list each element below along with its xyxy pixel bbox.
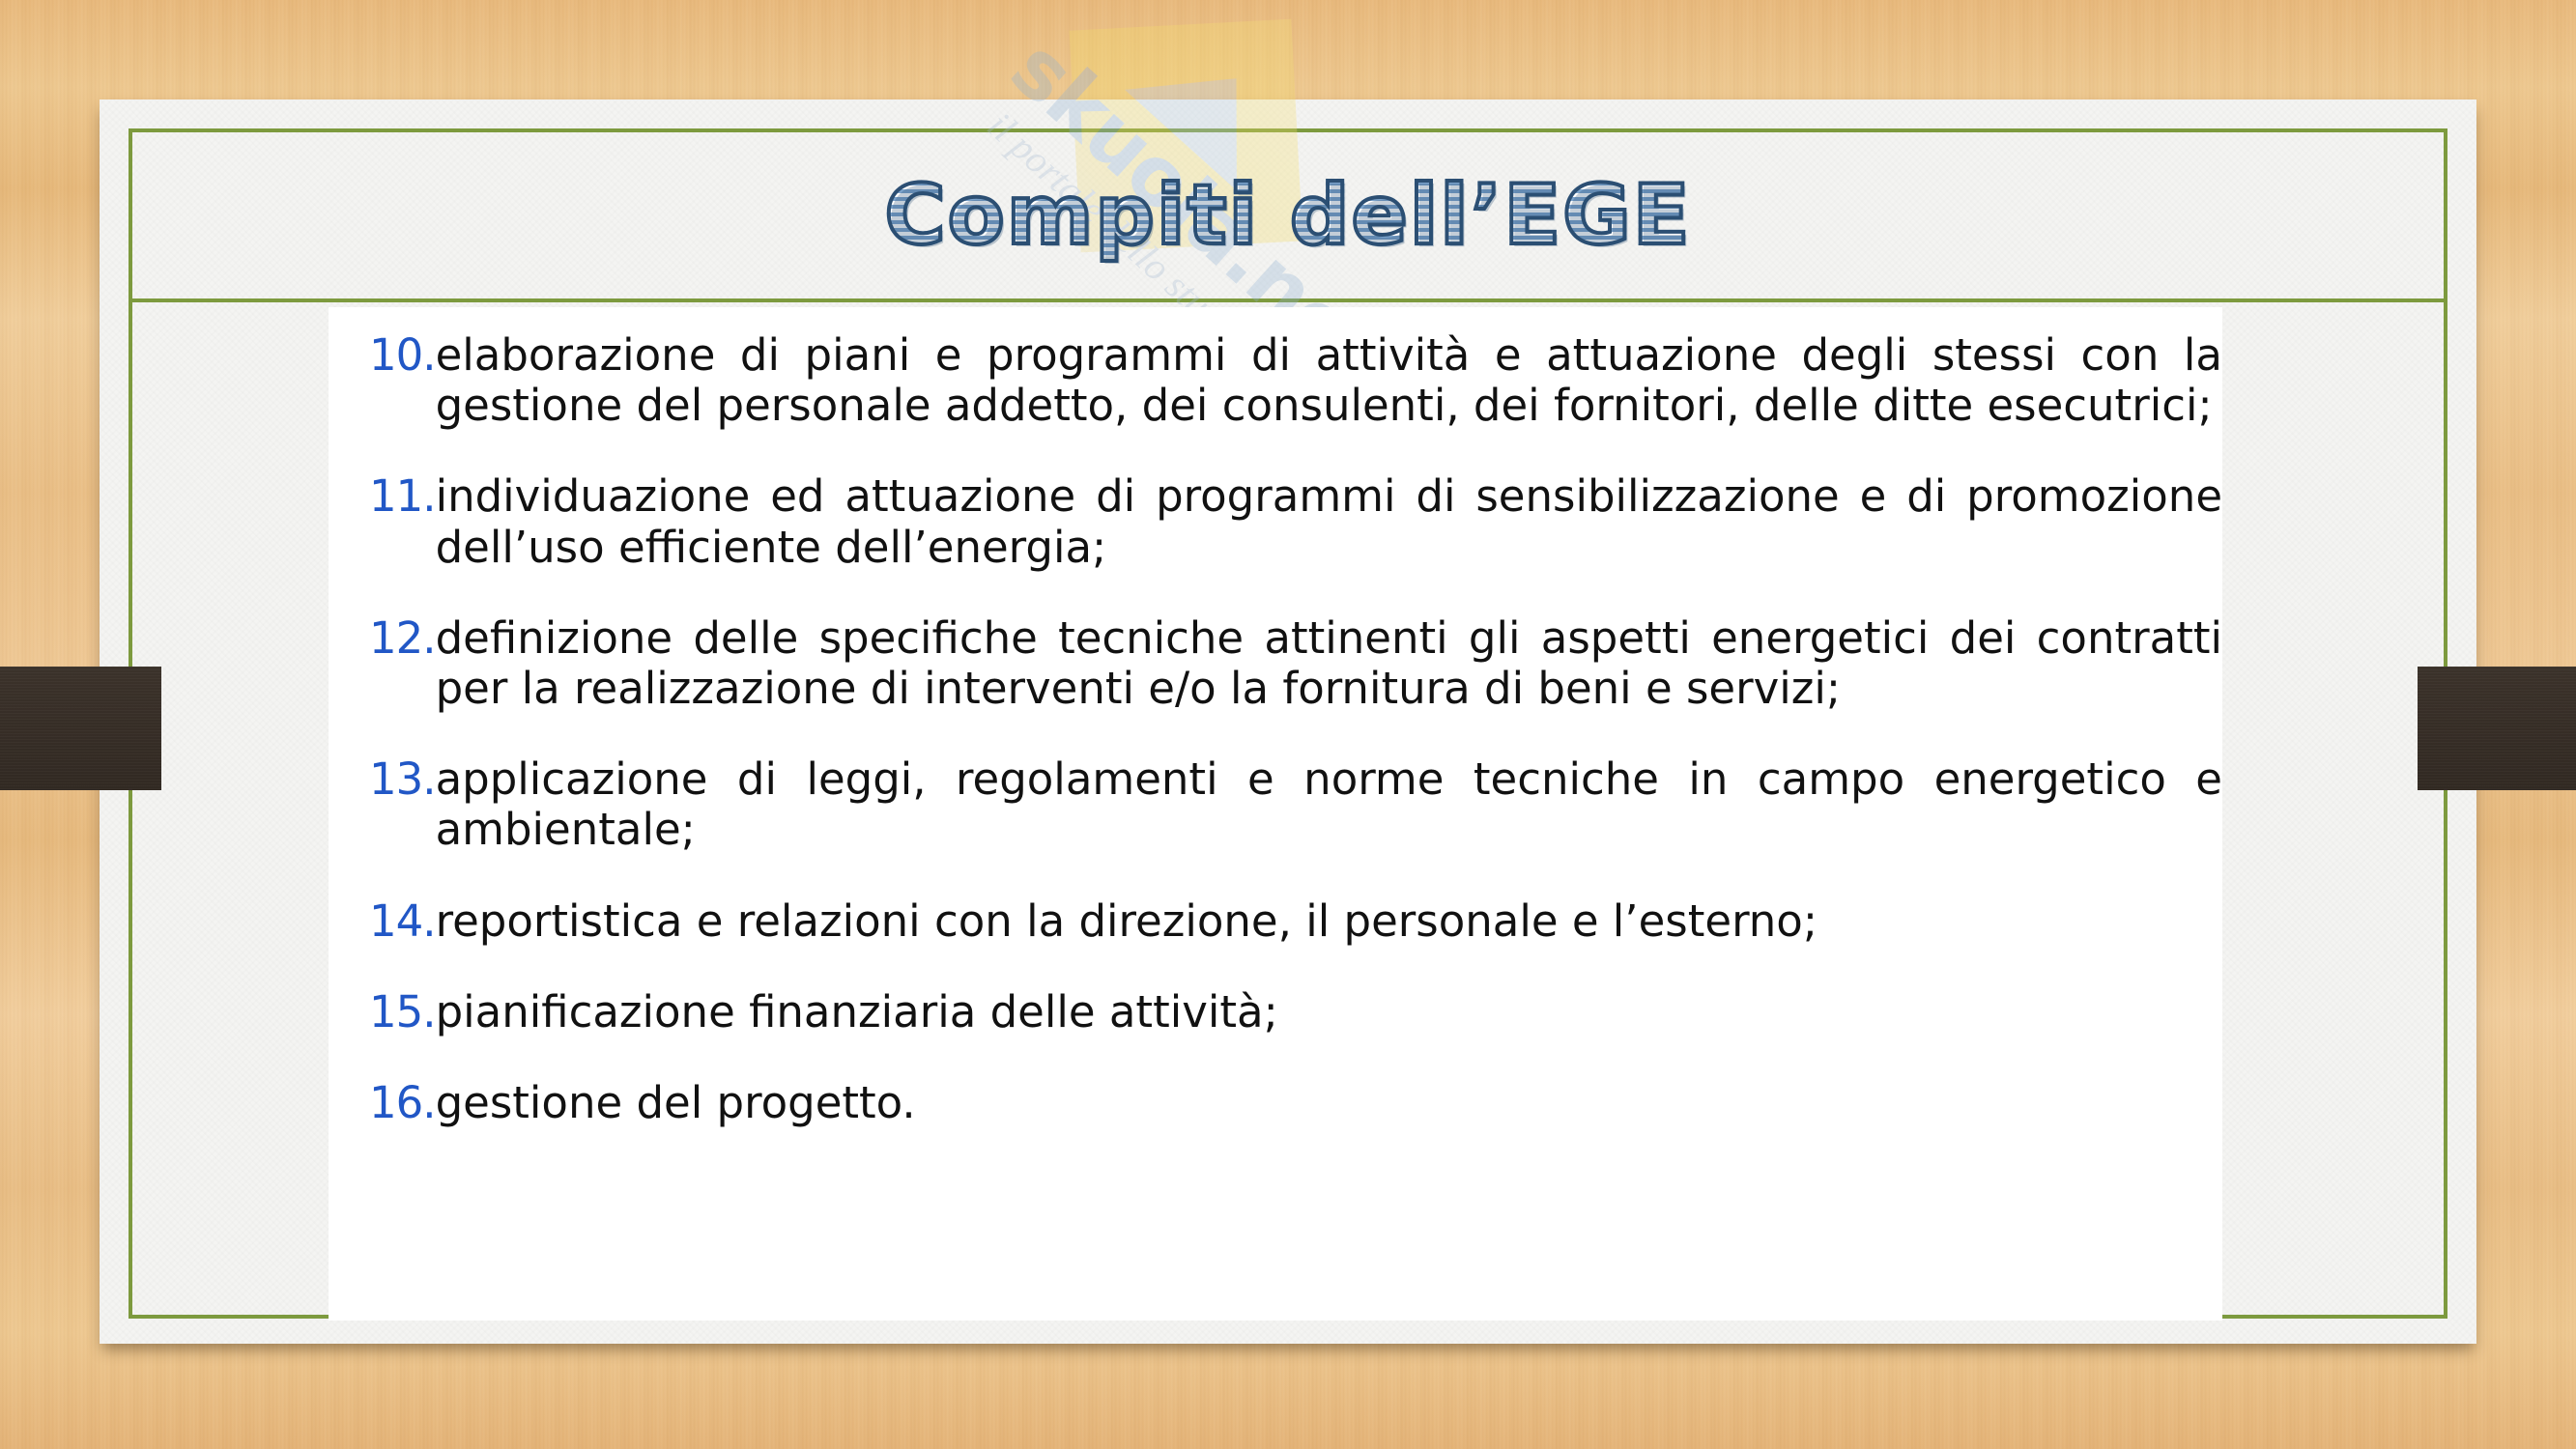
numbered-list: 10.elaborazione di piani e programmi di …	[369, 330, 2222, 1128]
list-item: 16.gestione del progetto.	[369, 1078, 2222, 1128]
list-item-text: pianificazione finanziaria delle attivit…	[436, 987, 2222, 1037]
list-item-text: reportistica e relazioni con la direzion…	[436, 896, 2222, 947]
list-item: 10.elaborazione di piani e programmi di …	[369, 330, 2222, 431]
list-item: 13.applicazione di leggi, regolamenti e …	[369, 754, 2222, 855]
list-item-number: 14.	[369, 896, 436, 947]
page-title: Compiti dell’EGE	[885, 174, 1692, 257]
right-navigation-tab[interactable]	[2418, 667, 2576, 790]
list-item-number: 12.	[369, 613, 436, 664]
list-item-number: 10.	[369, 330, 436, 381]
title-divider-rule	[129, 298, 2447, 302]
list-item: 12.definizione delle specifiche tecniche…	[369, 613, 2222, 714]
list-item-number: 15.	[369, 987, 436, 1037]
left-navigation-tab[interactable]	[0, 667, 161, 790]
list-item-number: 13.	[369, 754, 436, 805]
list-item: 15.pianificazione finanziaria delle atti…	[369, 987, 2222, 1037]
list-item: 11.individuazione ed attuazione di progr…	[369, 471, 2222, 572]
list-item-text: elaborazione di piani e programmi di att…	[436, 330, 2222, 431]
list-item: 14.reportistica e relazioni con la direz…	[369, 896, 2222, 947]
list-item-text: definizione delle specifiche tecniche at…	[436, 613, 2222, 714]
list-item-text: individuazione ed attuazione di programm…	[436, 471, 2222, 572]
list-item-number: 16.	[369, 1078, 436, 1128]
list-item-text: applicazione di leggi, regolamenti e nor…	[436, 754, 2222, 855]
title-zone: Compiti dell’EGE	[129, 132, 2447, 298]
list-item-number: 11.	[369, 471, 436, 522]
list-item-text: gestione del progetto.	[436, 1078, 2222, 1128]
